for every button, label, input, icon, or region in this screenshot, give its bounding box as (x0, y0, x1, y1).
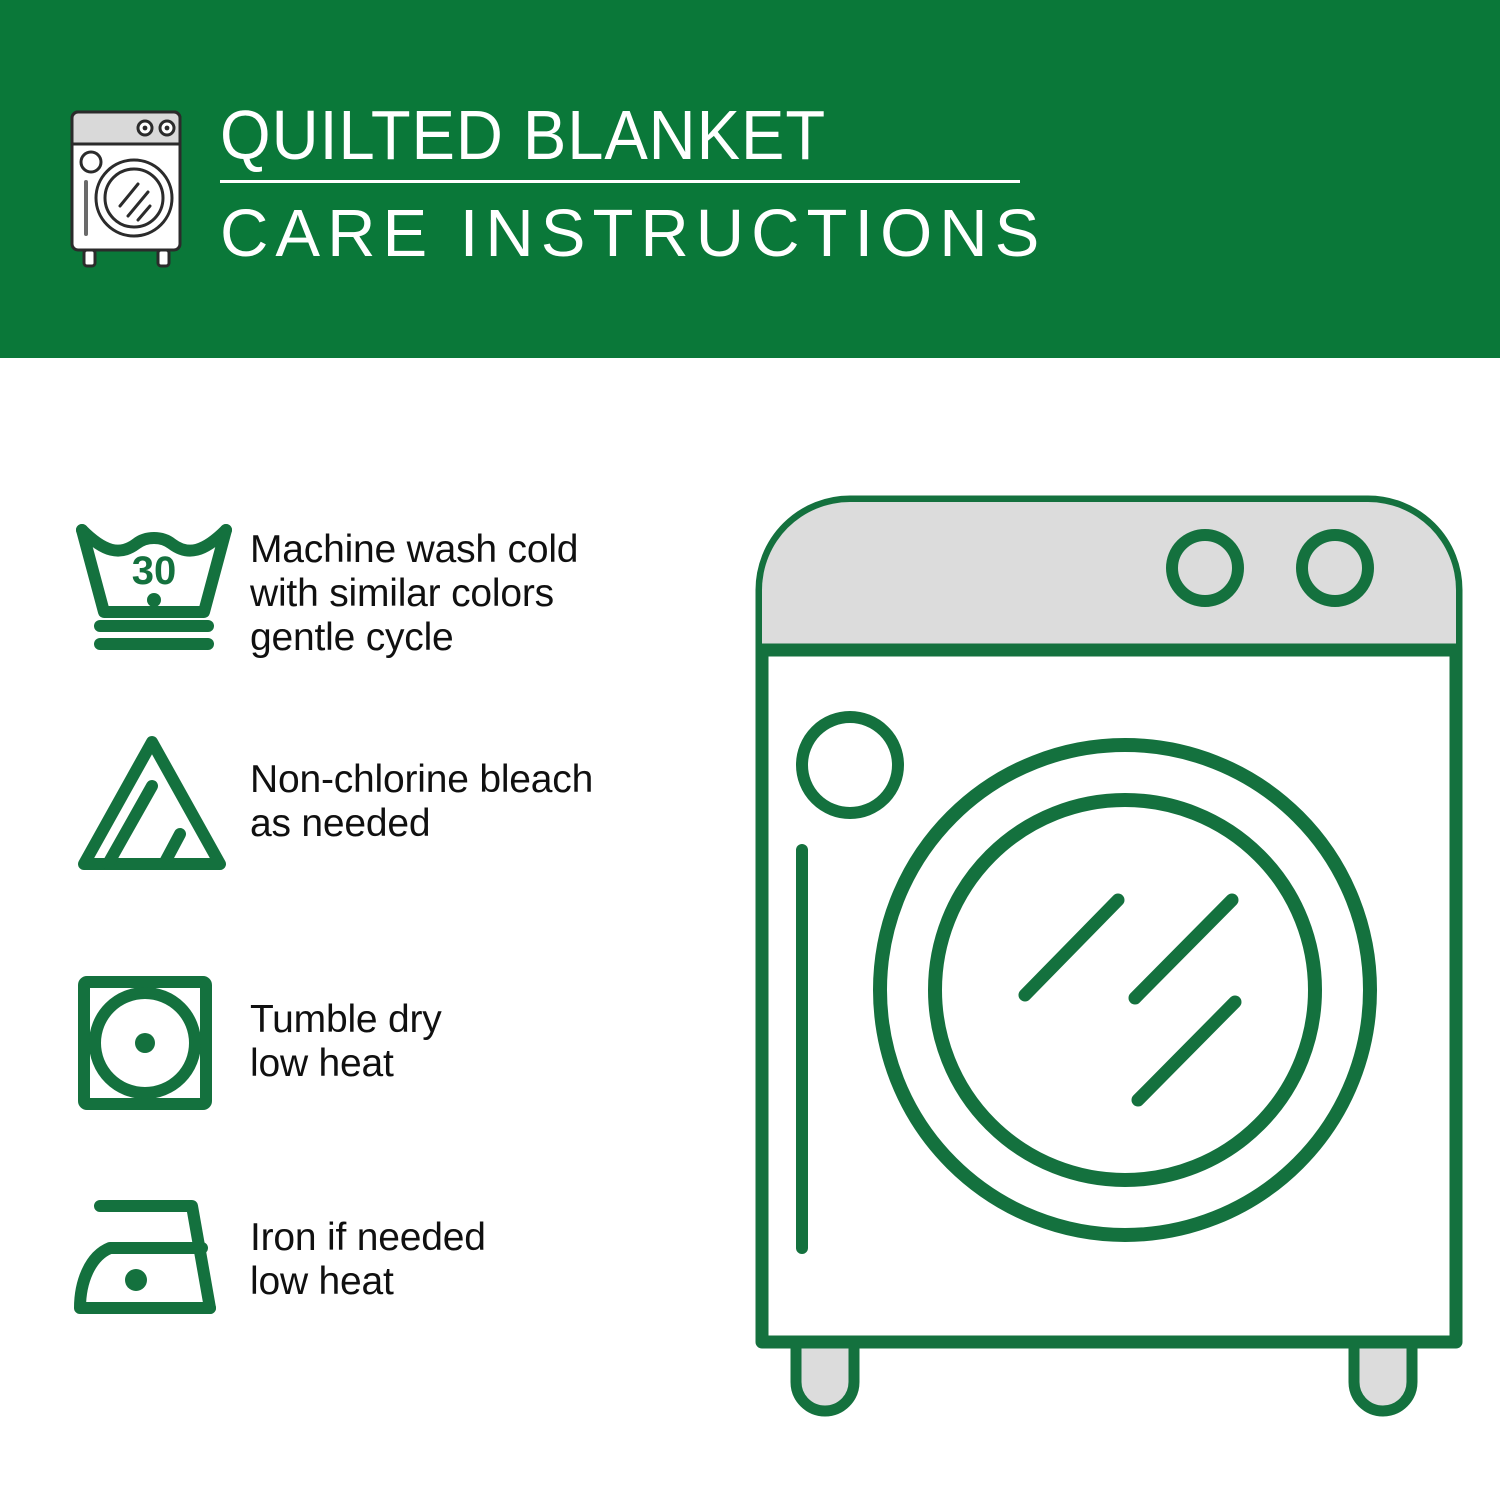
bleach-triangle-icon (70, 730, 250, 875)
page-title: QUILTED BLANKET (220, 96, 1020, 174)
iron-icon (70, 1190, 250, 1325)
header-inner: QUILTED BLANKET CARE INSTRUCTIONS (62, 96, 1062, 276)
detergent-dispenser (802, 717, 898, 813)
knob-left (1172, 535, 1238, 601)
wash-tub-30-icon: 30 (70, 518, 250, 653)
header-titles: QUILTED BLANKET CARE INSTRUCTIONS (220, 96, 1080, 271)
care-text-dry: Tumble dry low heat (250, 970, 710, 1086)
header-band: QUILTED BLANKET CARE INSTRUCTIONS (0, 0, 1500, 358)
care-instructions-list: 30 Machine wash cold with similar colors… (0, 358, 740, 1500)
care-instructions-poster: QUILTED BLANKET CARE INSTRUCTIONS (0, 0, 1500, 1500)
drum-inner-ring (935, 800, 1315, 1180)
care-row-iron: Iron if needed low heat (70, 1190, 710, 1325)
knob-right (1302, 535, 1368, 601)
care-text-bleach: Non-chlorine bleach as needed (250, 730, 710, 846)
care-row-bleach: Non-chlorine bleach as needed (70, 730, 710, 875)
washing-machine-icon (62, 104, 192, 274)
tumble-dry-icon (70, 970, 250, 1115)
page-subtitle: CARE INSTRUCTIONS (220, 197, 1080, 271)
care-text-wash: Machine wash cold with similar colors ge… (250, 518, 710, 660)
title-divider (220, 180, 1020, 183)
front-load-washing-machine-illustration (740, 480, 1480, 1440)
care-row-wash: 30 Machine wash cold with similar colors… (70, 518, 710, 660)
care-text-iron: Iron if needed low heat (250, 1190, 710, 1304)
wash-temperature-label: 30 (132, 549, 177, 593)
care-row-dry: Tumble dry low heat (70, 970, 710, 1115)
